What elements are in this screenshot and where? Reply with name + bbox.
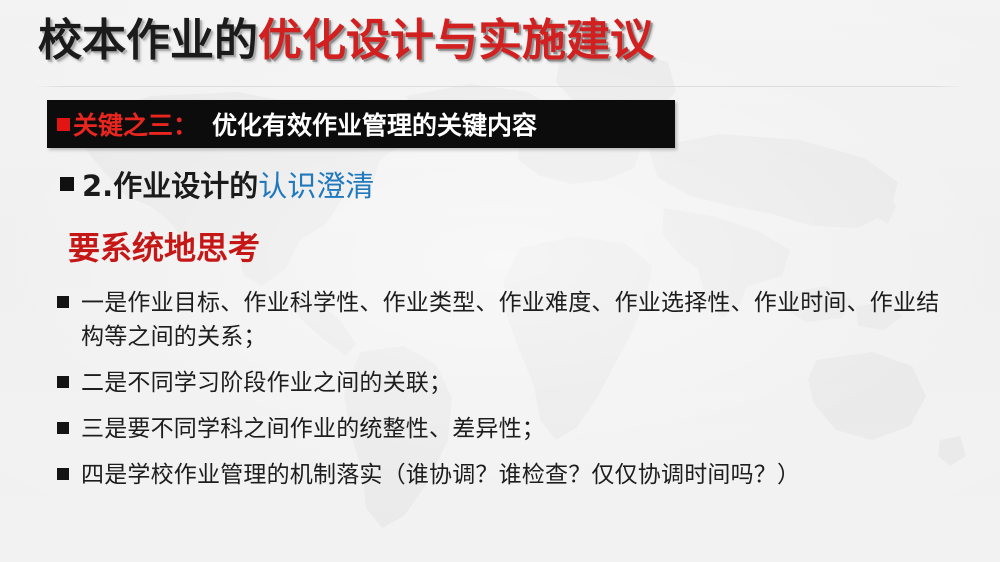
list-item-text: 四是学校作业管理的机制落实（谁协调？谁检查？仅仅协调时间吗？） <box>81 458 800 492</box>
title-divider <box>34 86 964 87</box>
subheading-dark-text: 2.作业设计的 <box>82 163 258 205</box>
black-square-bullet-icon <box>60 177 74 191</box>
square-bullet-icon <box>57 422 69 434</box>
section-subheading: 2.作业设计的认识澄清 <box>60 163 374 205</box>
square-bullet-icon <box>57 468 69 480</box>
red-square-bullet-icon <box>57 118 70 131</box>
key-point-description: 优化有效作业管理的关键内容 <box>212 106 537 142</box>
list-item: 四是学校作业管理的机制落实（谁协调？谁检查？仅仅协调时间吗？） <box>57 458 957 492</box>
subheading-blue-text: 认识澄清 <box>258 163 374 205</box>
slide-canvas: 校本作业的优化设计与实施建议 关键之三： 优化有效作业管理的关键内容 2.作业设… <box>0 0 1000 562</box>
square-bullet-icon <box>57 296 69 308</box>
list-item: 一是作业目标、作业科学性、作业类型、作业难度、作业选择性、作业时间、作业结构等之… <box>57 286 957 354</box>
list-item-text: 一是作业目标、作业科学性、作业类型、作业难度、作业选择性、作业时间、作业结构等之… <box>81 286 949 354</box>
list-item: 二是不同学习阶段作业之间的关联； <box>57 366 957 400</box>
key-point-banner: 关键之三： 优化有效作业管理的关键内容 <box>47 100 675 148</box>
page-title-red-segment: 优化设计与实施建议 <box>258 15 654 66</box>
page-title-dark-segment: 校本作业的 <box>38 15 258 66</box>
list-item: 三是要不同学科之间作业的统整性、差异性； <box>57 412 957 446</box>
key-point-label: 关键之三： <box>73 106 198 142</box>
list-item-text: 三是要不同学科之间作业的统整性、差异性； <box>81 412 545 446</box>
list-item-text: 二是不同学习阶段作业之间的关联； <box>81 366 452 400</box>
page-title: 校本作业的优化设计与实施建议 <box>38 13 654 69</box>
bullet-list: 一是作业目标、作业科学性、作业类型、作业难度、作业选择性、作业时间、作业结构等之… <box>57 286 957 504</box>
square-bullet-icon <box>57 376 69 388</box>
emphasis-heading: 要系统地思考 <box>68 223 260 269</box>
